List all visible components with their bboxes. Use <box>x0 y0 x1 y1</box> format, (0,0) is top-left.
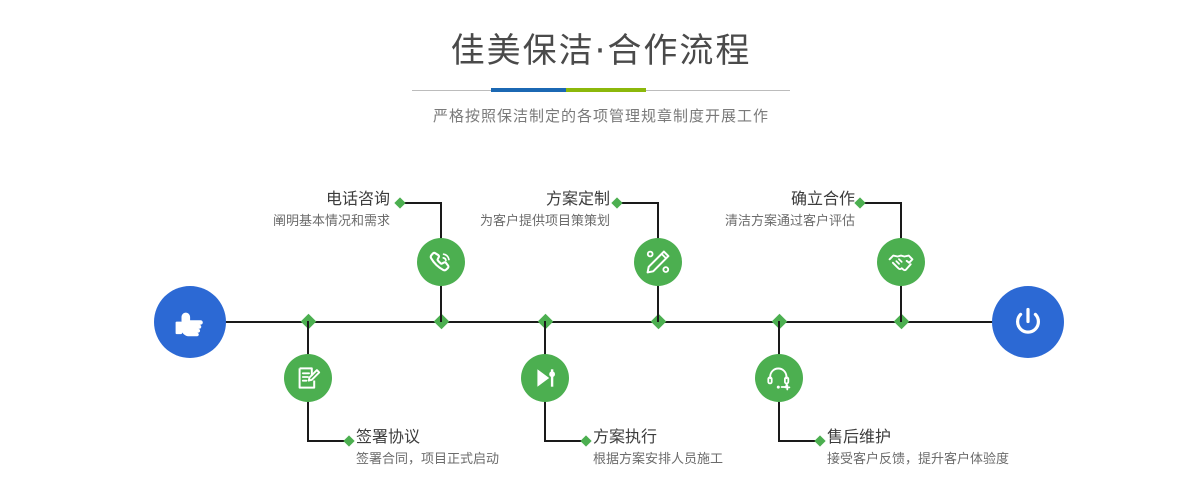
step-desc-phone-consultation: 阐明基本情况和需求 <box>140 212 390 232</box>
play-execute-icon <box>531 364 559 392</box>
title-divider <box>412 86 790 96</box>
step-label-sign-agreement: 签署协议 签署合同，项目正式启动 <box>356 426 616 470</box>
step-label-plan-execution: 方案执行 根据方案安排人员施工 <box>593 426 863 470</box>
step-node-plan-execution[interactable] <box>521 354 569 402</box>
step-label-phone-consultation: 电话咨询 阐明基本情况和需求 <box>140 188 390 232</box>
divider-segment-blue <box>491 88 566 92</box>
step-label-after-sales-maintenance: 售后维护 接受客户反馈，提升客户体验度 <box>827 426 1127 470</box>
timeline-start-endpoint <box>154 286 226 358</box>
step-node-plan-customization[interactable] <box>634 238 682 286</box>
pointing-hand-icon <box>170 302 210 342</box>
label-marker-5 <box>854 197 865 208</box>
phone-call-icon <box>427 248 455 276</box>
document-edit-icon <box>294 364 322 392</box>
flow-diagram-root: 佳美保洁·合作流程 严格按照保洁制定的各项管理规章制度开展工作 <box>0 0 1202 502</box>
step-desc-sign-agreement: 签署合同，项目正式启动 <box>356 450 616 470</box>
step-desc-after-sales-maintenance: 接受客户反馈，提升客户体验度 <box>827 450 1127 470</box>
handshake-icon <box>887 248 915 276</box>
step-label-plan-customization: 方案定制 为客户提供项目策策划 <box>360 188 610 232</box>
timeline-end-endpoint <box>992 286 1064 358</box>
page-subtitle: 严格按照保洁制定的各项管理规章制度开展工作 <box>0 105 1202 127</box>
step-title-establish-cooperation: 确立合作 <box>605 188 855 210</box>
connector-horizontal-5 <box>860 202 902 204</box>
label-marker-2 <box>343 435 354 446</box>
step-label-establish-cooperation: 确立合作 清洁方案通过客户评估 <box>605 188 855 232</box>
step-node-after-sales-maintenance[interactable] <box>755 354 803 402</box>
divider-segment-green <box>566 88 646 92</box>
step-desc-plan-customization: 为客户提供项目策策划 <box>360 212 610 232</box>
step-node-sign-agreement[interactable] <box>284 354 332 402</box>
power-icon <box>1008 302 1048 342</box>
step-title-phone-consultation: 电话咨询 <box>140 188 390 210</box>
step-desc-establish-cooperation: 清洁方案通过客户评估 <box>605 212 855 232</box>
header: 佳美保洁·合作流程 严格按照保洁制定的各项管理规章制度开展工作 <box>0 28 1202 127</box>
headset-support-icon <box>765 364 793 392</box>
step-title-sign-agreement: 签署协议 <box>356 426 616 448</box>
page-title: 佳美保洁·合作流程 <box>0 28 1202 74</box>
step-node-phone-consultation[interactable] <box>417 238 465 286</box>
pencil-ruler-icon <box>644 248 672 276</box>
step-title-plan-customization: 方案定制 <box>360 188 610 210</box>
step-node-establish-cooperation[interactable] <box>877 238 925 286</box>
step-title-after-sales-maintenance: 售后维护 <box>827 426 1127 448</box>
step-desc-plan-execution: 根据方案安排人员施工 <box>593 450 863 470</box>
